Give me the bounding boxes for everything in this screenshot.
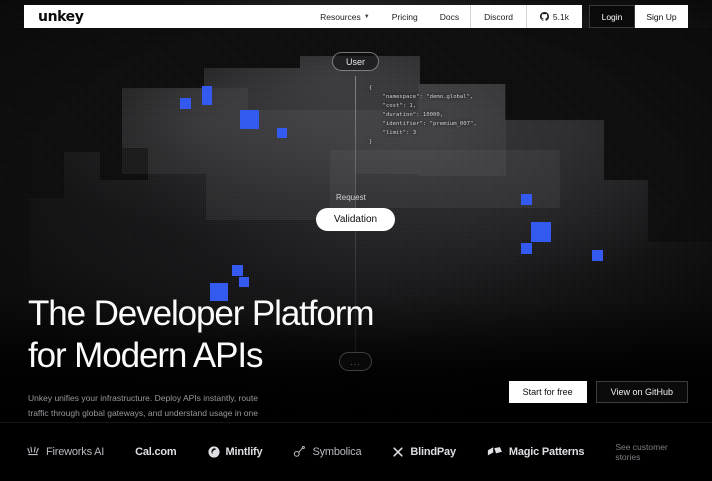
navbar-main: unkey Resources ▼ Pricing Docs Discord [24,5,582,28]
flow-node-user[interactable]: User [332,52,379,71]
customer-logo-magic-patterns[interactable]: Magic Patterns [487,446,584,458]
blindpay-icon [392,446,404,458]
customer-logo-label: Symbolica [312,446,361,458]
navbar-links: Resources ▼ Pricing Docs Discord 5.1k [309,5,582,28]
github-stars-group: 5.1k [540,12,569,22]
customer-logo-label: Fireworks AI [46,446,104,458]
nav-github-stars[interactable]: 5.1k [526,5,582,28]
customer-logo-bar: Fireworks AI Cal.com Mintlify Symbolica [0,422,712,481]
view-on-github-button[interactable]: View on GitHub [596,381,688,403]
customer-logo-label: Mintlify [226,446,263,458]
fireworks-icon [26,446,40,458]
flow-request-label: Request [336,193,366,202]
customer-logo-fireworks-ai[interactable]: Fireworks AI [26,446,104,458]
nav-link-resources-label: Resources [320,12,361,22]
nav-link-discord[interactable]: Discord [470,5,526,28]
hero-copy: The Developer Platform for Modern APIs U… [28,293,373,435]
navbar-auth: Login Sign Up [589,5,688,28]
hero-cta-group: Start for free View on GitHub [509,381,688,403]
customer-logo-label: Cal.com [135,446,176,458]
start-for-free-button[interactable]: Start for free [509,381,587,403]
customer-logo-label: BlindPay [410,446,455,458]
github-stars-count: 5.1k [553,12,569,22]
page-title: The Developer Platform for Modern APIs [28,293,373,377]
customer-logo-blindpay[interactable]: BlindPay [392,446,455,458]
page-root: unkey Resources ▼ Pricing Docs Discord [0,0,712,481]
brand-logo[interactable]: unkey [38,9,84,25]
nav-link-resources[interactable]: Resources ▼ [309,5,381,28]
symbolica-icon [293,446,306,458]
github-icon [540,12,549,21]
customer-logo-symbolica[interactable]: Symbolica [293,446,361,458]
top-navbar: unkey Resources ▼ Pricing Docs Discord [24,5,688,28]
page-title-line2: for Modern APIs [28,336,262,375]
customer-logo-label: Magic Patterns [509,446,584,458]
chevron-down-icon: ▼ [364,14,370,20]
magic-patterns-icon [487,446,503,458]
customer-logo-cal-com[interactable]: Cal.com [135,446,176,458]
nav-link-docs[interactable]: Docs [429,5,470,28]
nav-link-pricing[interactable]: Pricing [381,5,429,28]
flow-node-validation[interactable]: Validation [316,208,395,231]
mintlify-icon [208,446,220,458]
request-payload-code: { "namespace": "demo.global", "cost": 1,… [369,84,477,147]
page-title-line1: The Developer Platform [28,294,373,333]
login-button[interactable]: Login [589,5,635,28]
signup-button[interactable]: Sign Up [635,5,688,28]
see-customer-stories-link[interactable]: See customer stories [615,442,686,462]
customer-logo-mintlify[interactable]: Mintlify [208,446,263,458]
